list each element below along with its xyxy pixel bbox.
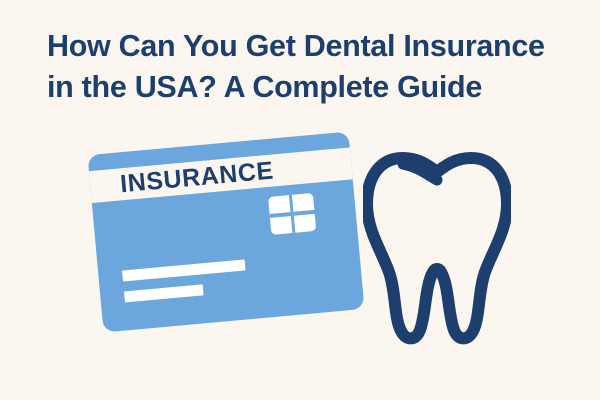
card-detail-bar-2 [124,284,204,302]
insurance-card-icon: INSURANCE [87,131,364,332]
page-title-line-2: in the USA? A Complete Guide [47,67,592,108]
page-title: How Can You Get Dental Insurance in the … [47,26,592,108]
infographic-canvas: How Can You Get Dental Insurance in the … [0,0,600,400]
page-title-line-1: How Can You Get Dental Insurance [47,26,592,67]
card-chip-icon [268,193,316,235]
card-detail-bar-1 [122,259,245,281]
tooth-icon [363,146,511,346]
